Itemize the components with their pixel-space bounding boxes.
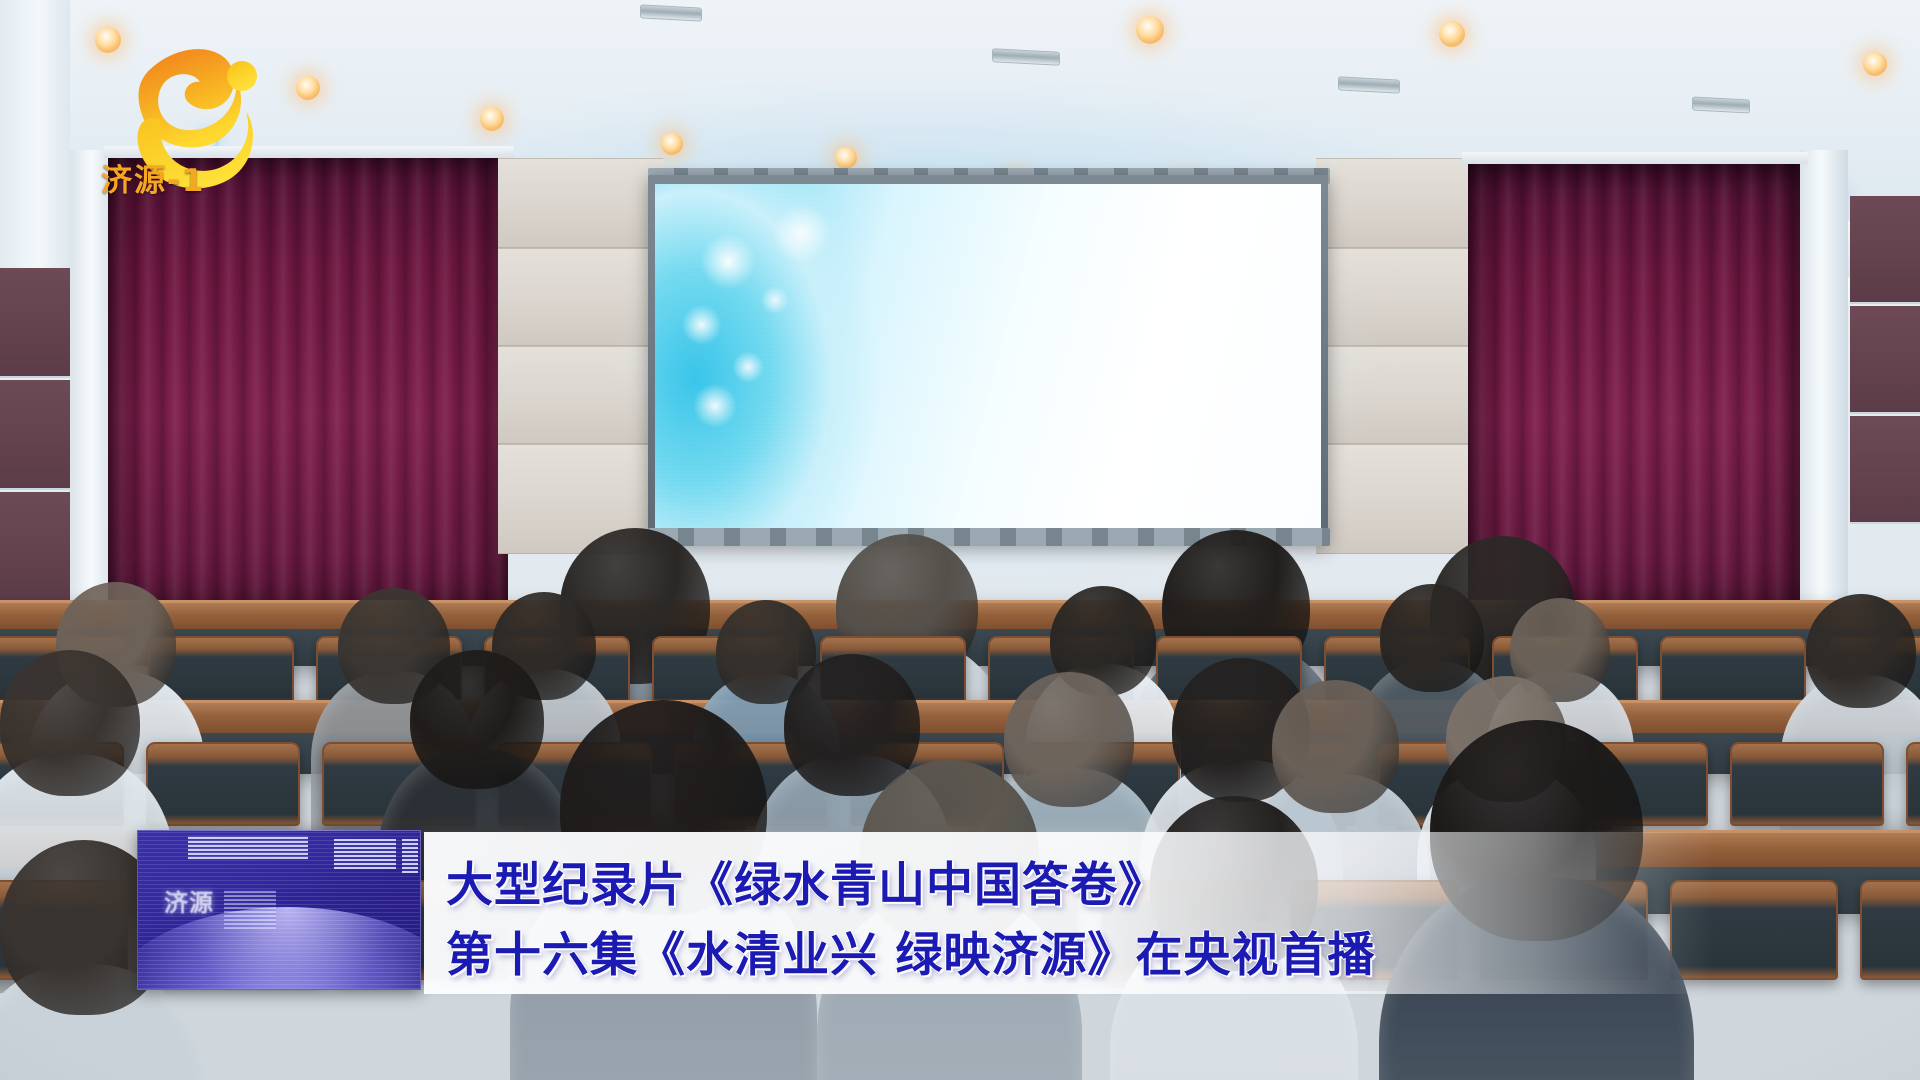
wall-panel-left-mid2 (498, 346, 663, 444)
wall-panel-far-right-2 (1850, 306, 1920, 414)
wall-panel-far-left-2 (0, 380, 70, 490)
auditorium-seat-back (1660, 636, 1806, 708)
lower-third-banner: 大型纪录片《绿水青山中国答卷》 第十六集《水清业兴 绿映济源》在央视首播 (424, 832, 1714, 994)
ceiling-air-vent (1692, 96, 1750, 113)
ceiling-downlight-warm (1136, 16, 1164, 44)
wall-panel-right-upper (1316, 158, 1478, 248)
lower-third-video-inset: 济源 (137, 830, 421, 990)
auditorium-seat-middle (1730, 742, 1884, 826)
screen-scanline-overlay (655, 184, 1321, 536)
wall-panel-right-mid (1316, 248, 1478, 346)
audience-member-head (410, 650, 544, 789)
ceiling-downlight-warm (1439, 21, 1465, 47)
lower-third-headline-line-1: 大型纪录片《绿水青山中国答卷》 (446, 846, 1166, 915)
auditorium-seat-front (1860, 880, 1920, 980)
projection-screen-content (655, 184, 1321, 536)
audience-member-head (1272, 680, 1399, 813)
inset-scanline-overlay (138, 831, 420, 989)
audience-member-head (1806, 594, 1916, 708)
wall-panel-left-mid (498, 248, 663, 346)
ceiling-downlight-warm (1863, 52, 1887, 76)
ceiling-downlight-warm (296, 76, 320, 100)
lower-third-headline-line-2: 第十六集《水清业兴 绿映济源》在央视首播 (446, 916, 1375, 985)
auditorium-seat-middle (1906, 742, 1920, 826)
audience-member-head (0, 650, 140, 796)
wall-panel-right-mid2 (1316, 346, 1478, 444)
wall-panel-far-right-3 (1850, 416, 1920, 524)
wall-panel-far-left (0, 268, 70, 378)
projection-screen (648, 175, 1328, 545)
channel-logo-label: 济源-1 (101, 155, 205, 200)
ceiling-downlight-warm (480, 107, 504, 131)
wall-panel-far-right-1 (1850, 196, 1920, 304)
ceiling-downlight-warm (661, 133, 683, 155)
curtain-rail-right (1462, 152, 1808, 164)
broadcast-frame: 济源-1 济源 大型纪录片《绿水青山中国答卷》 第十六集《水清业兴 绿映济源》在… (0, 0, 1920, 1080)
ceiling-downlight-warm (835, 147, 857, 169)
wall-panel-left-upper (498, 158, 663, 248)
pillar-right (1800, 150, 1848, 650)
auditorium-seat-middle (146, 742, 300, 826)
